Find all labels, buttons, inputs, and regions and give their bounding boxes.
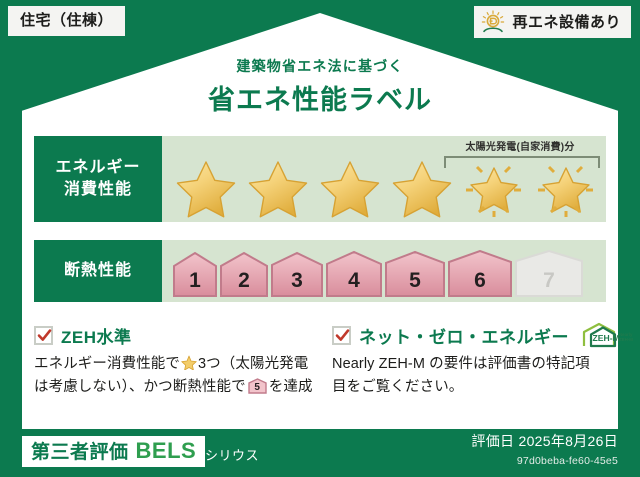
insulation-grade-2: 2 [219,250,269,298]
label-subtitle: 建築物省エネ法に基づく [0,56,640,76]
energy-label-line2: 消費性能 [64,179,132,201]
category-chip: 住宅（住棟） [8,6,125,36]
inline-star-icon [181,355,197,370]
svg-text:ZEH-M: ZEH-M [619,337,633,342]
insulation-row-body: 1 2 3 4 [162,240,606,302]
star-5-solar [460,157,528,219]
grade-number: 6 [474,270,486,298]
insulation-grade-6: 6 [447,250,513,298]
energy-performance-row: エネルギー 消費性能 太陽光発電(自家消費)分 [34,136,606,222]
solar-sun-icon [480,10,506,34]
svg-text:ZEH-M: ZEH-M [593,333,620,343]
star-1 [172,157,240,219]
nze-title: ネット・ゼロ・エネルギー [359,323,569,348]
insulation-grade-scale: 1 2 3 4 [172,246,596,298]
check-icon [335,328,350,343]
zeh-m-logo: ZEH-M Nearly ZEH-M [579,322,635,348]
star-4 [388,157,456,219]
note-zeh-header: ZEH水準 [34,322,316,348]
zeh-desc-part-c: を達成 [269,379,313,395]
inline-grade-badge: 5 [248,378,267,394]
grade-number: 5 [409,270,421,298]
grade-number: 2 [238,270,250,298]
zeh-description: エネルギー消費性能で 3つ（太陽光発電は考慮しない）、かつ断熱性能で 5を達成 [34,353,316,400]
star-6-solar [532,157,600,219]
star-2 [244,157,312,219]
renewable-equipment-chip: 再エネ設備あり [474,6,631,38]
insulation-row-label: 断熱性能 [34,240,162,302]
insulation-grade-1: 1 [172,250,218,298]
grade-number: 7 [543,270,555,298]
renewable-chip-label: 再エネ設備あり [512,15,621,30]
insulation-performance-row: 断熱性能 1 [34,240,606,302]
energy-performance-label: 住宅（住棟） 再エネ設備あり 建築物省エネ法に基づ [0,0,640,477]
energy-label-line1: エネルギー [55,157,140,179]
nze-checkbox[interactable] [332,326,351,345]
grade-number: 3 [291,270,303,298]
inline-grade-number: 5 [248,378,267,394]
insulation-grade-7: 7 [514,250,584,298]
check-icon [37,328,52,343]
bels-badge: 第三者評価 BELS [22,436,205,467]
criteria-notes: ZEH水準 エネルギー消費性能で 3つ（太陽光発電は考慮しない）、かつ断熱性能で… [34,322,610,414]
energy-row-body: 太陽光発電(自家消費)分 [162,136,606,222]
insulation-grade-4: 4 [325,250,383,298]
energy-row-label: エネルギー 消費性能 [34,136,162,222]
label-title: 省エネ性能ラベル [0,78,640,117]
bels-en-label: BELS [136,440,197,462]
note-nze-header: ネット・ゼロ・エネルギー ZEH-M Nearly ZEH-M [332,322,604,348]
evaluation-date: 評価日 2025年8月26日 [471,431,618,451]
nze-description: Nearly ZEH-M の要件は評価書の特記項目をご覧ください。 [332,353,604,400]
zeh-checkbox[interactable] [34,326,53,345]
bels-series-label: シリウス [205,445,259,464]
zeh-desc-part-a: エネルギー消費性能で [34,356,180,372]
insulation-grade-5: 5 [384,250,446,298]
zeh-title: ZEH水準 [61,323,132,348]
grade-number: 1 [189,270,201,298]
solar-bracket-label: 太陽光発電(自家消費)分 [440,138,600,153]
insulation-label-line1: 断熱性能 [64,260,132,282]
insulation-grade-3: 3 [270,250,324,298]
evaluation-id: 97d0beba-fe60-45e5 [517,455,618,467]
star-rating [172,158,600,218]
grade-number: 4 [348,270,360,298]
star-3 [316,157,384,219]
note-net-zero-energy: ネット・ゼロ・エネルギー ZEH-M Nearly ZEH-M Nearly Z… [322,322,610,414]
label-footer: 第三者評価 BELS シリウス 評価日 2025年8月26日 97d0beba-… [0,429,640,477]
bels-jp-label: 第三者評価 [31,443,129,462]
note-zeh-standard: ZEH水準 エネルギー消費性能で 3つ（太陽光発電は考慮しない）、かつ断熱性能で… [34,322,322,414]
